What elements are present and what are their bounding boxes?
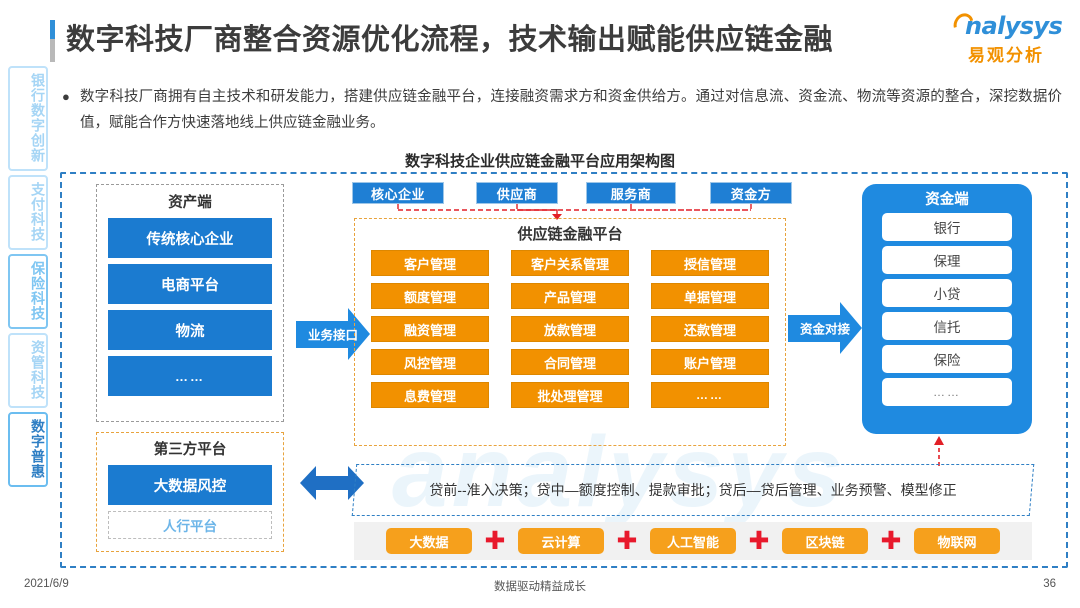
footer-slogan: 数据驱动精益成长 xyxy=(0,578,1080,594)
sidebar: 银行数字创新 支付科技 保险科技 资管科技 数字普惠 xyxy=(8,66,48,491)
plus-icon: ✚ xyxy=(604,531,650,551)
feedback-arrow-icon xyxy=(930,436,948,466)
module-credit-mgmt[interactable]: 授信管理 xyxy=(651,250,769,276)
module-risk-control-mgmt[interactable]: 风控管理 xyxy=(371,349,489,375)
role-chip-core-enterprise[interactable]: 核心企业 xyxy=(352,182,444,204)
asset-side-heading: 资产端 xyxy=(108,191,272,212)
logo-word-text: nalysys xyxy=(965,12,1062,40)
loan-lifecycle-callout: 贷前--准入决策；贷中—额度控制、提款审批；贷后—贷后管理、业务预警、模型修正 xyxy=(352,464,1035,516)
fund-item-trust[interactable]: 信托 xyxy=(882,312,1012,340)
fund-docking-arrow: 资金对接 xyxy=(788,302,862,354)
title-accent-bar xyxy=(50,20,55,62)
page-title-text: 数字科技厂商整合资源优化流程，技术输出赋能供应链金融 xyxy=(66,18,833,62)
bullet-dot-icon: ● xyxy=(62,84,80,136)
asset-item-logistics[interactable]: 物流 xyxy=(108,310,272,350)
fund-side-box: 资金端 银行 保理 小贷 信托 保险 …… xyxy=(862,184,1032,434)
tech-tag-blockchain[interactable]: 区块链 xyxy=(782,528,868,554)
tech-tag-ai[interactable]: 人工智能 xyxy=(650,528,736,554)
footer-page-number: 36 xyxy=(1043,578,1056,590)
logo-wordmark: nalysys xyxy=(946,12,1066,40)
role-chip-funder[interactable]: 资金方 xyxy=(710,182,792,204)
platform-title: 供应链金融平台 xyxy=(355,223,785,244)
tech-tag-cloud[interactable]: 云计算 xyxy=(518,528,604,554)
logo-chinese-text: 易观分析 xyxy=(946,41,1066,66)
fund-item-bank[interactable]: 银行 xyxy=(882,213,1012,241)
third-party-box: 第三方平台 大数据风控 人行平台 xyxy=(96,432,284,552)
arrow-shape xyxy=(788,315,840,342)
analysys-logo: nalysys 易观分析 xyxy=(946,12,1066,66)
asset-side-box: 资产端 传统核心企业 电商平台 物流 …… xyxy=(96,184,284,422)
module-document-mgmt[interactable]: 单据管理 xyxy=(651,283,769,309)
sidebar-item-insurance[interactable]: 保险科技 xyxy=(8,254,48,329)
platform-module-grid: 客户管理 客户关系管理 授信管理 额度管理 产品管理 单据管理 融资管理 放款管… xyxy=(355,244,785,408)
asset-item-more[interactable]: …… xyxy=(108,356,272,396)
diagram-title: 数字科技企业供应链金融平台应用架构图 xyxy=(0,150,1080,171)
module-repayment-mgmt[interactable]: 还款管理 xyxy=(651,316,769,342)
plus-icon: ✚ xyxy=(472,531,518,551)
fund-item-more[interactable]: …… xyxy=(882,378,1012,406)
role-chip-service-provider[interactable]: 服务商 xyxy=(586,182,676,204)
bullet-text: 数字科技厂商拥有自主技术和研发能力，搭建供应链金融平台，连接融资需求方和资金供给… xyxy=(80,84,1062,136)
bullet-paragraph: ● 数字科技厂商拥有自主技术和研发能力，搭建供应链金融平台，连接融资需求方和资金… xyxy=(62,84,1062,136)
arrow-shape xyxy=(296,321,348,348)
module-account-mgmt[interactable]: 账户管理 xyxy=(651,349,769,375)
module-more[interactable]: …… xyxy=(651,382,769,408)
asset-item-core-enterprise[interactable]: 传统核心企业 xyxy=(108,218,272,258)
slide-page: 数字科技厂商整合资源优化流程，技术输出赋能供应链金融 nalysys 易观分析 … xyxy=(0,0,1080,608)
technology-tag-strip: 大数据 ✚ 云计算 ✚ 人工智能 ✚ 区块链 ✚ 物联网 xyxy=(354,522,1032,560)
role-chip-supplier[interactable]: 供应商 xyxy=(476,182,558,204)
architecture-diagram: analysys 资产端 传统核心企业 电商平台 物流 …… 第三方平台 大数据… xyxy=(60,172,1068,568)
third-party-pboc-platform[interactable]: 人行平台 xyxy=(108,511,272,539)
fund-item-microloan[interactable]: 小贷 xyxy=(882,279,1012,307)
page-title: 数字科技厂商整合资源优化流程，技术输出赋能供应链金融 xyxy=(50,18,930,64)
tech-tag-bigdata[interactable]: 大数据 xyxy=(386,528,472,554)
supply-chain-finance-platform: 供应链金融平台 客户管理 客户关系管理 授信管理 额度管理 产品管理 单据管理 … xyxy=(354,218,786,446)
footer: 2021/6/9 数据驱动精益成长 36 xyxy=(0,578,1080,600)
module-contract-mgmt[interactable]: 合同管理 xyxy=(511,349,629,375)
module-customer-mgmt[interactable]: 客户管理 xyxy=(371,250,489,276)
third-party-bigdata-risk[interactable]: 大数据风控 xyxy=(108,465,272,505)
third-party-heading: 第三方平台 xyxy=(108,438,272,459)
module-loan-disbursement[interactable]: 放款管理 xyxy=(511,316,629,342)
module-financing-mgmt[interactable]: 融资管理 xyxy=(371,316,489,342)
plus-icon: ✚ xyxy=(736,531,782,551)
module-crm[interactable]: 客户关系管理 xyxy=(511,250,629,276)
fund-item-insurance[interactable]: 保险 xyxy=(882,345,1012,373)
loan-lifecycle-text: 贷前--准入决策；贷中—额度控制、提款审批；贷后—贷后管理、业务预警、模型修正 xyxy=(355,465,1031,515)
fund-item-factoring[interactable]: 保理 xyxy=(882,246,1012,274)
sidebar-item-payment[interactable]: 支付科技 xyxy=(8,175,48,250)
sidebar-item-digital-inclusive[interactable]: 数字普惠 xyxy=(8,412,48,487)
module-quota-mgmt[interactable]: 额度管理 xyxy=(371,283,489,309)
module-fee-mgmt[interactable]: 息费管理 xyxy=(371,382,489,408)
plus-icon: ✚ xyxy=(868,531,914,551)
fund-side-heading: 资金端 xyxy=(882,188,1012,209)
module-batch-processing[interactable]: 批处理管理 xyxy=(511,382,629,408)
sidebar-item-asset-mgmt[interactable]: 资管科技 xyxy=(8,333,48,408)
tech-tag-iot[interactable]: 物联网 xyxy=(914,528,1000,554)
module-product-mgmt[interactable]: 产品管理 xyxy=(511,283,629,309)
asset-item-ecommerce[interactable]: 电商平台 xyxy=(108,264,272,304)
